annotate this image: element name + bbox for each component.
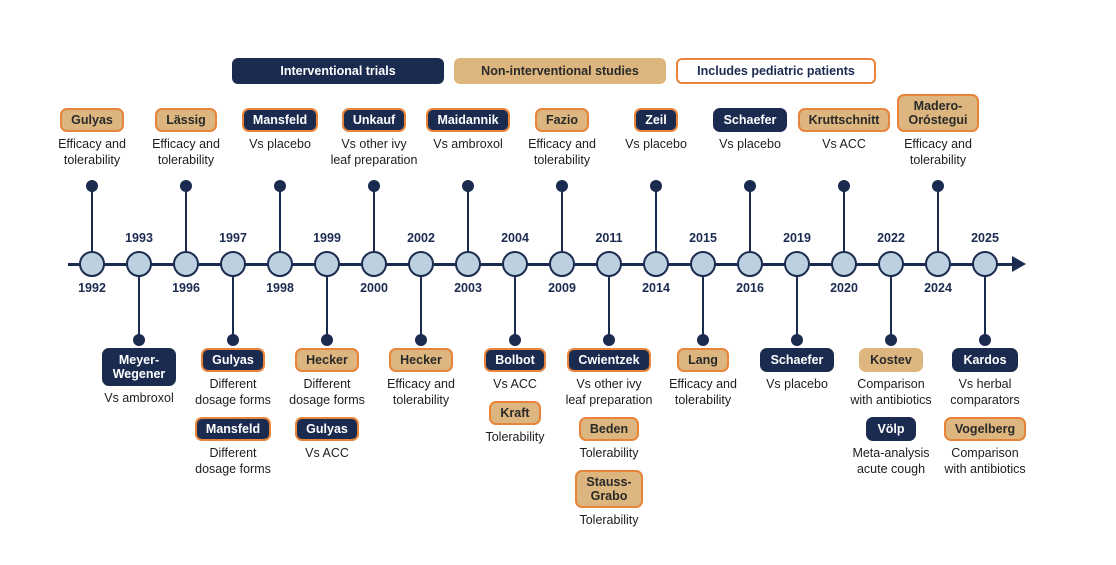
connector-dot <box>556 180 568 192</box>
timeline-node-1999 <box>314 251 340 277</box>
connector-dot <box>462 180 474 192</box>
study-column-bottom-1997: GulyasDifferent dosage formsMansfeldDiff… <box>181 348 285 477</box>
connector-dot <box>415 334 427 346</box>
year-label-2003: 2003 <box>445 281 491 295</box>
timeline-node-2020 <box>831 251 857 277</box>
connector-dot <box>133 334 145 346</box>
timeline-node-2004 <box>502 251 528 277</box>
year-label-2019: 2019 <box>774 231 820 245</box>
connector-stem <box>279 186 282 251</box>
study-description: Vs ambroxol <box>104 390 173 406</box>
timeline-node-2000 <box>361 251 387 277</box>
study-column-bottom-2004: BolbotVs ACCKraftTolerability <box>463 348 567 445</box>
study-column-top-1996: LässigEfficacy and tolerability <box>138 108 234 168</box>
study-description: Efficacy and tolerability <box>387 376 455 408</box>
timeline-node-1998 <box>267 251 293 277</box>
study-description: Different dosage forms <box>289 376 365 408</box>
year-label-2004: 2004 <box>492 231 538 245</box>
study-description: Comparison with antibiotics <box>850 376 931 408</box>
study-description: Efficacy and tolerability <box>904 136 972 168</box>
connector-stem <box>91 186 94 251</box>
connector-stem <box>232 277 235 340</box>
study-column-top-1992: GulyasEfficacy and tolerability <box>44 108 140 168</box>
timeline-node-1996 <box>173 251 199 277</box>
legend-item-non-interventional-studies: Non-interventional studies <box>454 58 666 84</box>
timeline-node-2011 <box>596 251 622 277</box>
connector-dot <box>321 334 333 346</box>
connector-dot <box>885 334 897 346</box>
study-entry: CwientzekVs other ivy leaf preparation <box>566 348 653 408</box>
study-column-bottom-2019: SchaeferVs placebo <box>745 348 849 392</box>
study-badge-meyer--wegener[interactable]: Meyer- Wegener <box>102 348 177 386</box>
connector-dot <box>509 334 521 346</box>
study-badge-cwientzek[interactable]: Cwientzek <box>567 348 650 372</box>
connector-stem <box>467 186 470 251</box>
year-label-2000: 2000 <box>351 281 397 295</box>
timeline-node-2009 <box>549 251 575 277</box>
year-label-2015: 2015 <box>680 231 726 245</box>
connector-stem <box>796 277 799 340</box>
study-entry: MansfeldDifferent dosage forms <box>195 417 271 477</box>
connector-stem <box>185 186 188 251</box>
connector-stem <box>373 186 376 251</box>
year-label-1993: 1993 <box>116 231 162 245</box>
study-badge-schaefer[interactable]: Schaefer <box>713 108 788 132</box>
connector-stem <box>890 277 893 340</box>
connector-dot <box>791 334 803 346</box>
year-label-1998: 1998 <box>257 281 303 295</box>
year-label-2020: 2020 <box>821 281 867 295</box>
study-badge-gulyas[interactable]: Gulyas <box>201 348 265 372</box>
study-column-bottom-2011: CwientzekVs other ivy leaf preparationBe… <box>557 348 661 528</box>
study-badge-kruttschnitt[interactable]: Kruttschnitt <box>798 108 891 132</box>
study-badge-hecker[interactable]: Hecker <box>295 348 359 372</box>
study-description: Different dosage forms <box>195 376 271 408</box>
study-column-top-2016: SchaeferVs placebo <box>702 108 798 152</box>
study-badge-bolbot[interactable]: Bolbot <box>484 348 546 372</box>
study-entry: HeckerEfficacy and tolerability <box>387 348 455 408</box>
study-description: Efficacy and tolerability <box>58 136 126 168</box>
legend-item-includes-pediatric-patients: Includes pediatric patients <box>676 58 876 84</box>
study-entry: Stauss- GraboTolerability <box>575 470 642 528</box>
connector-dot <box>697 334 709 346</box>
timeline-axis-arrow-icon <box>1012 256 1026 272</box>
year-label-2025: 2025 <box>962 231 1008 245</box>
year-label-1992: 1992 <box>69 281 115 295</box>
study-entry: BedenTolerability <box>579 417 639 461</box>
connector-dot <box>227 334 239 346</box>
study-description: Vs other ivy leaf preparation <box>566 376 653 408</box>
study-column-bottom-2022: KostevComparison with antibioticsVölpMet… <box>839 348 943 477</box>
study-column-top-2020: KruttschnittVs ACC <box>796 108 892 152</box>
connector-stem <box>561 186 564 251</box>
study-entry: GulyasVs ACC <box>295 417 359 461</box>
year-label-2011: 2011 <box>586 231 632 245</box>
connector-dot <box>368 180 380 192</box>
study-entry: HeckerDifferent dosage forms <box>289 348 365 408</box>
study-description: Vs placebo <box>249 136 311 152</box>
study-description: Vs placebo <box>625 136 687 152</box>
study-description: Tolerability <box>579 512 638 528</box>
connector-stem <box>702 277 705 340</box>
study-description: Meta-analysis acute cough <box>852 445 929 477</box>
study-entry: BolbotVs ACC <box>484 348 546 392</box>
study-badge-lang[interactable]: Lang <box>677 348 729 372</box>
timeline-node-2016 <box>737 251 763 277</box>
study-badge-mansfeld[interactable]: Mansfeld <box>195 417 271 441</box>
connector-stem <box>937 186 940 251</box>
study-description: Tolerability <box>485 429 544 445</box>
study-column-top-1998: MansfeldVs placebo <box>232 108 328 152</box>
study-entry: KardosVs herbal comparators <box>950 348 1019 408</box>
timeline-node-1993 <box>126 251 152 277</box>
study-column-top-2009: FazioEfficacy and tolerability <box>514 108 610 168</box>
year-label-2016: 2016 <box>727 281 773 295</box>
timeline-node-2015 <box>690 251 716 277</box>
study-badge-mansfeld[interactable]: Mansfeld <box>242 108 318 132</box>
year-label-2022: 2022 <box>868 231 914 245</box>
study-entry: KostevComparison with antibiotics <box>850 348 931 408</box>
study-entry: GulyasDifferent dosage forms <box>195 348 271 408</box>
year-label-1996: 1996 <box>163 281 209 295</box>
connector-dot <box>274 180 286 192</box>
study-entry: Meyer- WegenerVs ambroxol <box>102 348 177 406</box>
timeline-node-1992 <box>79 251 105 277</box>
study-column-top-2024: Madero- OrósteguiEfficacy and tolerabili… <box>890 94 986 168</box>
study-badge-fazio[interactable]: Fazio <box>535 108 589 132</box>
study-badge-völp[interactable]: Völp <box>866 417 915 441</box>
connector-stem <box>984 277 987 340</box>
study-entry: SchaeferVs placebo <box>760 348 835 392</box>
legend: Interventional trials Non-interventional… <box>232 58 876 84</box>
study-description: Efficacy and tolerability <box>528 136 596 168</box>
study-badge-madero--oróstegui[interactable]: Madero- Oróstegui <box>897 94 978 132</box>
study-column-top-2000: UnkaufVs other ivy leaf preparation <box>326 108 422 168</box>
connector-stem <box>843 186 846 251</box>
study-description: Vs ambroxol <box>433 136 502 152</box>
study-badge-gulyas[interactable]: Gulyas <box>60 108 124 132</box>
timeline-node-2022 <box>878 251 904 277</box>
study-badge-unkauf[interactable]: Unkauf <box>342 108 406 132</box>
study-badge-vogelberg[interactable]: Vogelberg <box>944 417 1026 441</box>
timeline-node-2014 <box>643 251 669 277</box>
study-column-top-2003: MaidannikVs ambroxol <box>420 108 516 152</box>
connector-stem <box>608 277 611 340</box>
year-label-2009: 2009 <box>539 281 585 295</box>
study-description: Comparison with antibiotics <box>944 445 1025 477</box>
study-column-bottom-2002: HeckerEfficacy and tolerability <box>369 348 473 408</box>
connector-stem <box>655 186 658 251</box>
study-entry: VogelbergComparison with antibiotics <box>944 417 1026 477</box>
study-description: Vs placebo <box>719 136 781 152</box>
study-column-bottom-2015: LangEfficacy and tolerability <box>651 348 755 408</box>
study-badge-stauss--grabo[interactable]: Stauss- Grabo <box>575 470 642 508</box>
study-column-top-2014: ZeilVs placebo <box>608 108 704 152</box>
study-badge-schaefer[interactable]: Schaefer <box>760 348 835 372</box>
year-label-1997: 1997 <box>210 231 256 245</box>
connector-dot <box>838 180 850 192</box>
timeline-node-2025 <box>972 251 998 277</box>
study-description: Different dosage forms <box>195 445 271 477</box>
study-description: Vs ACC <box>822 136 866 152</box>
year-label-2024: 2024 <box>915 281 961 295</box>
study-description: Efficacy and tolerability <box>669 376 737 408</box>
study-description: Vs herbal comparators <box>950 376 1019 408</box>
study-badge-lässig[interactable]: Lässig <box>155 108 217 132</box>
connector-dot <box>744 180 756 192</box>
timeline-node-2024 <box>925 251 951 277</box>
study-description: Tolerability <box>579 445 638 461</box>
connector-stem <box>326 277 329 340</box>
connector-dot <box>603 334 615 346</box>
timeline-node-2003 <box>455 251 481 277</box>
connector-dot <box>86 180 98 192</box>
study-badge-maidannik[interactable]: Maidannik <box>426 108 509 132</box>
study-entry: KraftTolerability <box>485 401 544 445</box>
timeline-node-1997 <box>220 251 246 277</box>
connector-stem <box>749 186 752 251</box>
connector-dot <box>650 180 662 192</box>
legend-item-interventional-trials: Interventional trials <box>232 58 444 84</box>
study-badge-gulyas[interactable]: Gulyas <box>295 417 359 441</box>
study-badge-beden[interactable]: Beden <box>579 417 639 441</box>
study-column-bottom-1999: HeckerDifferent dosage formsGulyasVs ACC <box>275 348 379 461</box>
year-label-1999: 1999 <box>304 231 350 245</box>
study-entry: LangEfficacy and tolerability <box>669 348 737 408</box>
connector-dot <box>180 180 192 192</box>
connector-stem <box>514 277 517 340</box>
study-badge-kraft[interactable]: Kraft <box>489 401 540 425</box>
study-column-bottom-2025: KardosVs herbal comparatorsVogelbergComp… <box>933 348 1037 477</box>
timeline-node-2019 <box>784 251 810 277</box>
study-description: Vs ACC <box>493 376 537 392</box>
year-label-2002: 2002 <box>398 231 444 245</box>
timeline-node-2002 <box>408 251 434 277</box>
study-badge-zeil[interactable]: Zeil <box>634 108 678 132</box>
study-badge-kostev[interactable]: Kostev <box>859 348 923 372</box>
connector-stem <box>420 277 423 340</box>
study-description: Vs placebo <box>766 376 828 392</box>
study-description: Vs other ivy leaf preparation <box>331 136 418 168</box>
year-label-2014: 2014 <box>633 281 679 295</box>
timeline-diagram: Interventional trials Non-interventional… <box>0 0 1116 565</box>
connector-dot <box>932 180 944 192</box>
study-column-bottom-1993: Meyer- WegenerVs ambroxol <box>87 348 191 406</box>
connector-stem <box>138 277 141 340</box>
study-entry: VölpMeta-analysis acute cough <box>852 417 929 477</box>
study-description: Vs ACC <box>305 445 349 461</box>
study-badge-hecker[interactable]: Hecker <box>389 348 453 372</box>
connector-dot <box>979 334 991 346</box>
study-badge-kardos[interactable]: Kardos <box>952 348 1017 372</box>
study-description: Efficacy and tolerability <box>152 136 220 168</box>
